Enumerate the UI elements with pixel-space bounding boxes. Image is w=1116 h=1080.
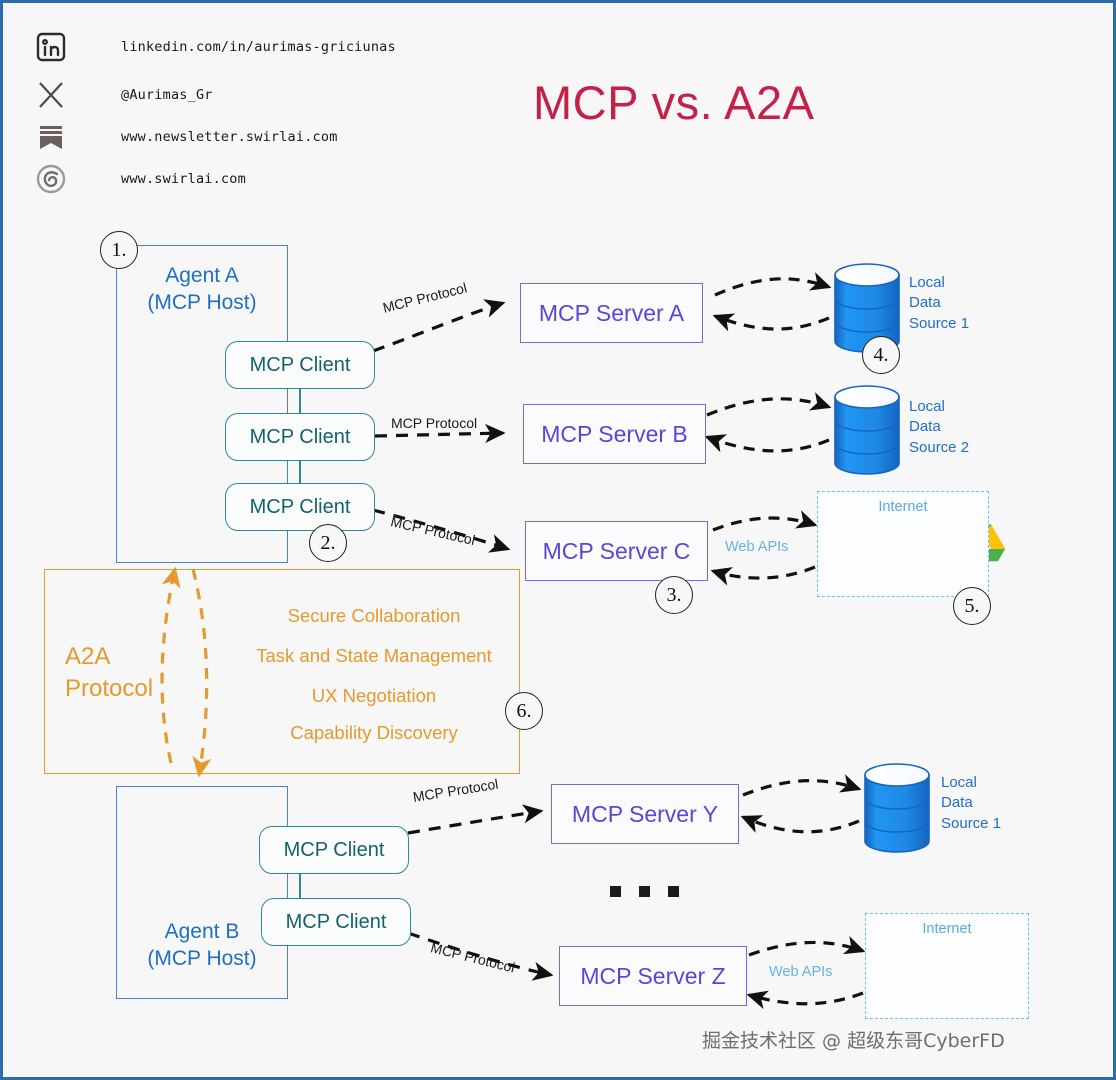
mcp-client-a1[interactable]: MCP Client [225, 341, 375, 389]
data-source-2-label: Local Data Source 2 [909, 397, 969, 458]
mcp-client-b1[interactable]: MCP Client [259, 826, 409, 874]
data-source-3-label: Local Data Source 1 [941, 773, 1001, 834]
ds3-line2: Data [941, 794, 973, 811]
agent-a-role: (MCP Host) [147, 291, 256, 314]
callout-3: 3. [655, 576, 693, 614]
linkedin-icon [33, 29, 69, 65]
ds3-line1: Local [941, 774, 977, 791]
header-link-newsletter[interactable]: www.newsletter.swirlai.com [33, 119, 338, 155]
internet-box-bottom[interactable]: Internet [865, 913, 1029, 1019]
dot [610, 886, 621, 897]
internet-box-top[interactable]: Internet [817, 491, 989, 597]
data-source-1-label: Local Data Source 1 [909, 273, 969, 334]
newsletter-icon [33, 119, 69, 155]
header-link-linkedin[interactable]: linkedin.com/in/aurimas-griciunas [33, 29, 396, 65]
page-title: MCP vs. A2A [533, 75, 815, 130]
agent-b-client-connector [299, 873, 301, 901]
ds1-line1: Local [909, 274, 945, 291]
mcp-client-a3[interactable]: MCP Client [225, 483, 375, 531]
ds2-line2: Data [909, 418, 941, 435]
mcp-client-a2[interactable]: MCP Client [225, 413, 375, 461]
header-link-swirlai[interactable]: www.swirlai.com [33, 161, 246, 197]
a2a-feature-0: Secure Collaboration [229, 605, 519, 627]
web-apis-label-bottom: Web APIs [769, 964, 832, 980]
mcp-protocol-label-a1: MCP Protocol [381, 279, 468, 315]
mcp-server-a[interactable]: MCP Server A [520, 283, 703, 343]
a2a-protocol-name: A2A Protocol [65, 641, 153, 704]
callout-2: 2. [309, 524, 347, 562]
db-cylinder-3 [865, 764, 929, 852]
header-link-text: www.swirlai.com [121, 171, 246, 187]
web-apis-label-top: Web APIs [725, 539, 788, 555]
mcp-protocol-label-b1: MCP Protocol [412, 776, 500, 805]
ds3-line3: Source 1 [941, 815, 1001, 832]
x-twitter-icon [33, 77, 69, 113]
watermark: 掘金技术社区 @ 超级东哥CyberFD [702, 1026, 1005, 1053]
dot [639, 886, 650, 897]
callout-4: 4. [862, 336, 900, 374]
a2a-feature-3: Capability Discovery [229, 722, 519, 744]
header-link-x[interactable]: @Aurimas_Gr [33, 77, 213, 113]
mcp-server-b[interactable]: MCP Server B [523, 404, 706, 464]
ds2-line3: Source 2 [909, 439, 969, 456]
agent-a-label: Agent A (MCP Host) [116, 263, 288, 317]
a2a-name-line1: A2A [65, 643, 110, 670]
callout-5: 5. [953, 587, 991, 625]
mcp-server-z[interactable]: MCP Server Z [559, 946, 747, 1006]
callout-6: 6. [505, 692, 543, 730]
swirl-icon [33, 161, 69, 197]
mcp-client-b2[interactable]: MCP Client [261, 898, 411, 946]
internet-title: Internet [866, 921, 1028, 937]
a2a-feature-2: UX Negotiation [229, 685, 519, 707]
header-link-text: @Aurimas_Gr [121, 87, 213, 103]
ellipsis-dots [610, 886, 679, 897]
ds1-line2: Data [909, 294, 941, 311]
ds2-line1: Local [909, 398, 945, 415]
mcp-server-c[interactable]: MCP Server C [525, 521, 708, 581]
dot [668, 886, 679, 897]
callout-1: 1. [100, 231, 138, 269]
header-link-text: www.newsletter.swirlai.com [121, 129, 338, 145]
mcp-server-y[interactable]: MCP Server Y [551, 784, 739, 844]
agent-b-name: Agent B [165, 920, 240, 943]
ds1-line3: Source 1 [909, 315, 969, 332]
a2a-feature-1: Task and State Management [219, 645, 529, 667]
mcp-protocol-label-a3: MCP Protocol [389, 513, 477, 548]
mcp-protocol-label-b2: MCP Protocol [429, 939, 516, 975]
agent-a-name: Agent A [165, 264, 239, 287]
agent-b-role: (MCP Host) [147, 947, 256, 970]
diagram-canvas: linkedin.com/in/aurimas-griciunas @Aurim… [0, 0, 1116, 1080]
mcp-protocol-label-a2: MCP Protocol [391, 415, 477, 431]
a2a-name-line2: Protocol [65, 675, 153, 702]
db-cylinder-2 [835, 386, 899, 474]
header-link-text: linkedin.com/in/aurimas-griciunas [121, 39, 396, 55]
internet-title: Internet [818, 499, 988, 515]
